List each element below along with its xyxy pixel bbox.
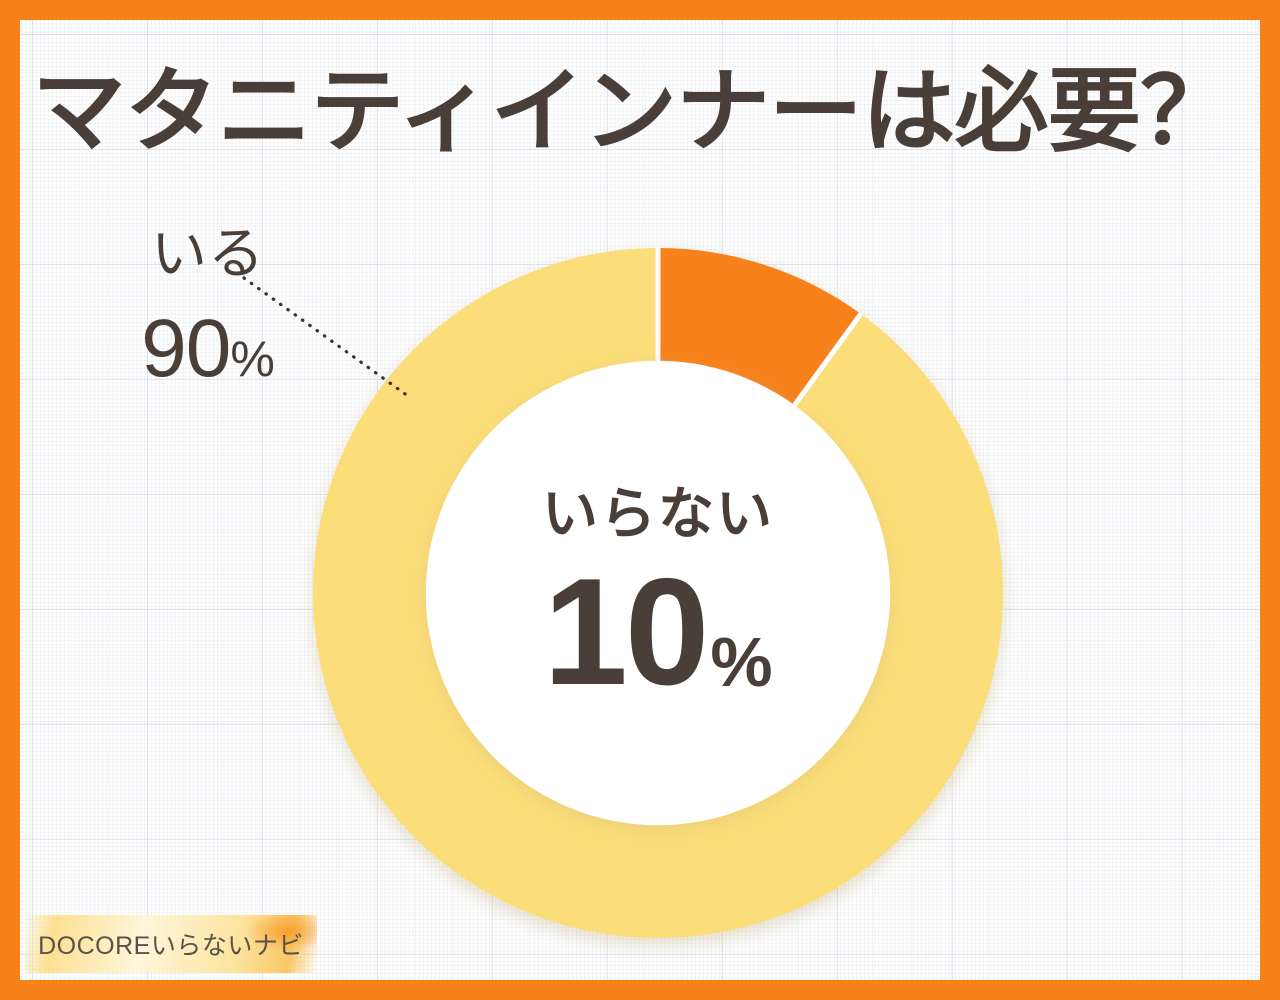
donut-chart-svg bbox=[293, 228, 1023, 958]
donut-chart bbox=[293, 228, 1023, 958]
callout-label: いる bbox=[78, 226, 338, 282]
donut-hole bbox=[426, 361, 890, 825]
callout-value: 90% bbox=[78, 308, 338, 390]
infographic-card: マタニティインナーは必要？ bbox=[0, 0, 1280, 1000]
callout-iru: いる 90% bbox=[78, 226, 338, 390]
callout-value-number: 90 bbox=[141, 303, 230, 394]
site-logo-text: DOCOREいらないナビ bbox=[38, 926, 304, 962]
callout-percent-symbol: % bbox=[230, 331, 274, 387]
page-title: マタニティインナーは必要？ bbox=[32, 64, 1280, 161]
site-logo[interactable]: DOCOREいらないナビ bbox=[25, 915, 317, 973]
